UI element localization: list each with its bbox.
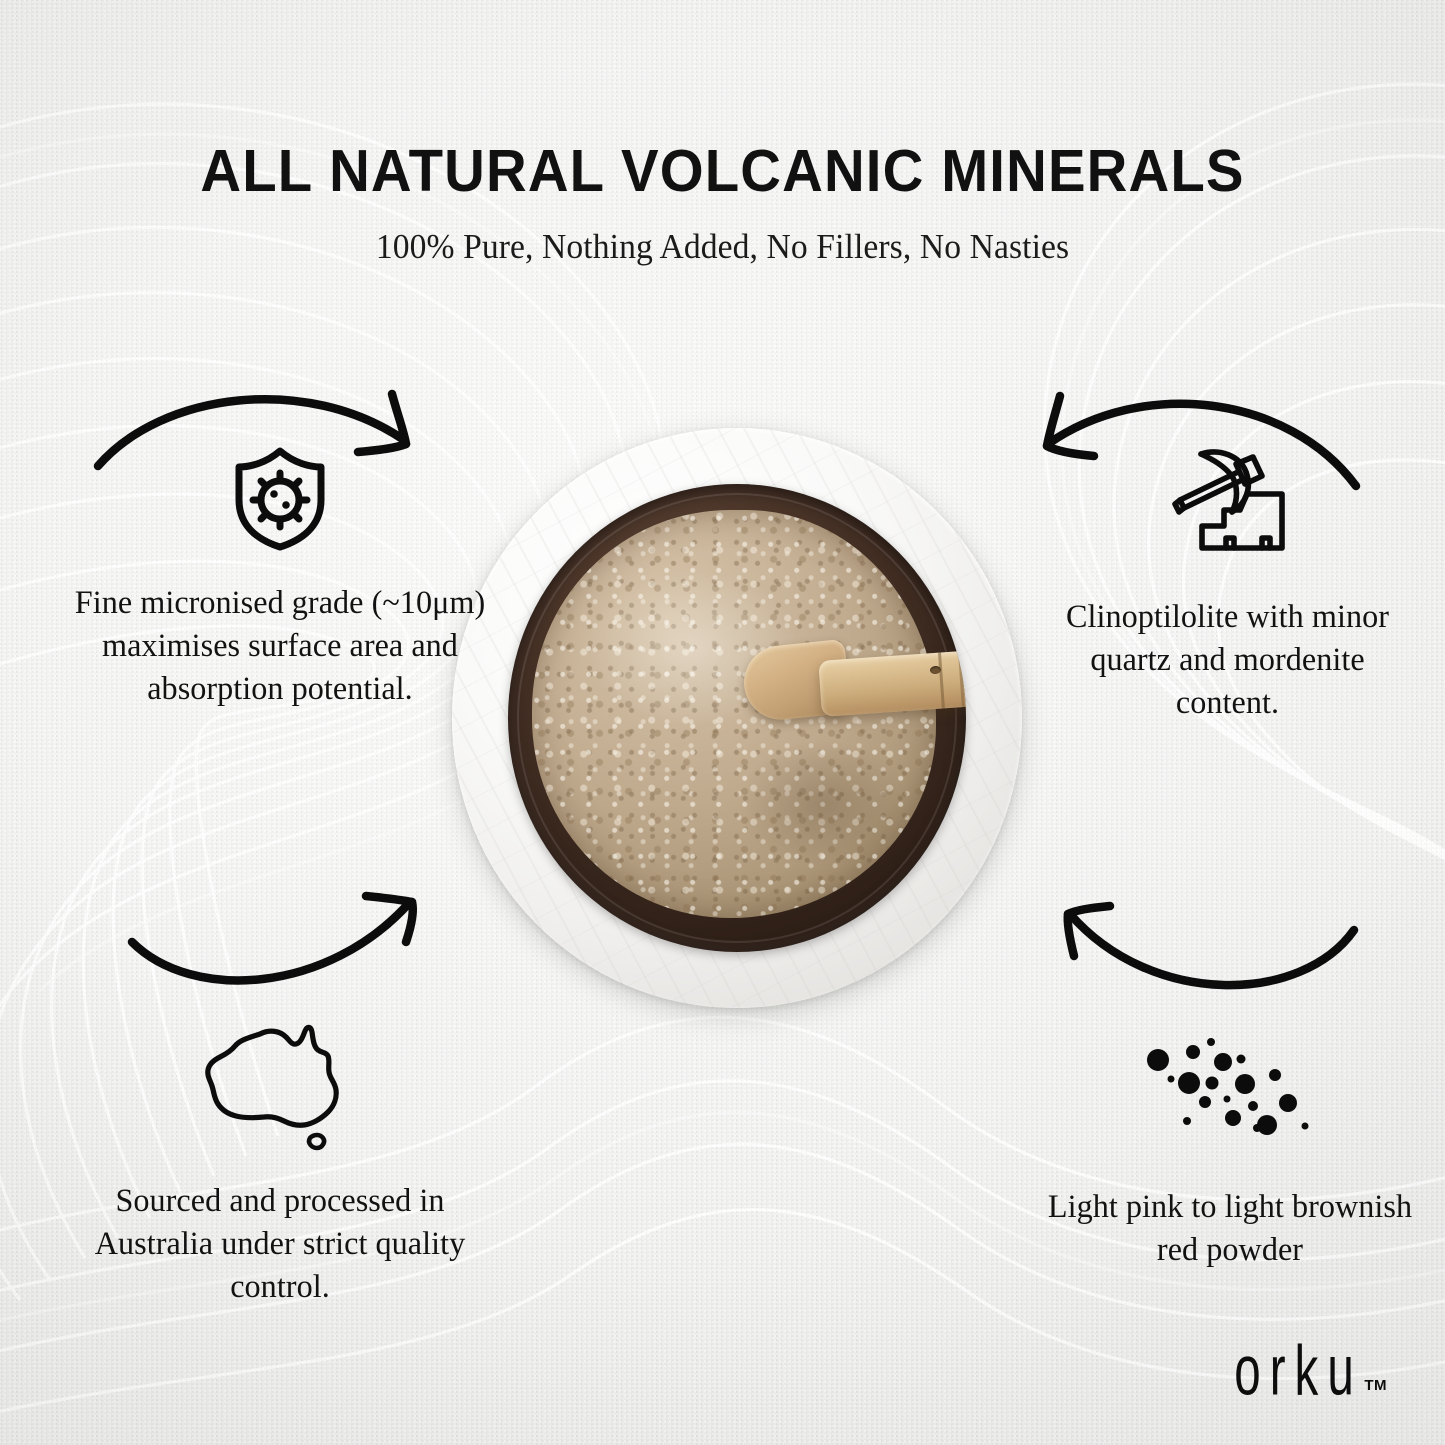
shield-germ-icon — [60, 440, 500, 552]
brand-wordmark: orku — [1234, 1338, 1363, 1403]
page-subtitle: 100% Pure, Nothing Added, No Fillers, No… — [29, 227, 1416, 267]
australia-map-icon — [70, 1014, 490, 1152]
feature-label: Fine micronised grade (~10μm) maximises … — [66, 582, 495, 711]
infographic-canvas: ALL NATURAL VOLCANIC MINERALS 100% Pure,… — [0, 0, 1445, 1445]
feature-australian-sourced: Sourced and processed in Australia under… — [70, 1014, 490, 1309]
arrow-bottom-right — [1040, 886, 1360, 1012]
feature-label: Light pink to light brownish red powder — [1045, 1186, 1416, 1272]
feature-fine-micronised-grade: Fine micronised grade (~10μm) maximises … — [60, 440, 500, 711]
feature-label: Sourced and processed in Australia under… — [75, 1180, 485, 1309]
page-title: ALL NATURAL VOLCANIC MINERALS — [33, 142, 1413, 201]
mineral-powder — [532, 510, 936, 918]
brand-logo: orku TM — [1206, 1350, 1388, 1403]
arrow-bottom-left — [128, 884, 428, 1004]
trademark-symbol: TM — [1364, 1377, 1387, 1394]
ceramic-bowl — [508, 484, 966, 952]
feature-label: Clinoptilolite with minor quartz and mor… — [1045, 596, 1411, 725]
header: ALL NATURAL VOLCANIC MINERALS 100% Pure,… — [0, 142, 1445, 267]
volcanic-mineral-powder-photo — [452, 428, 1022, 1008]
feature-powder-colour: Light pink to light brownish red powder — [1040, 1032, 1420, 1272]
powder-particles-icon — [1040, 1032, 1420, 1152]
pickaxe-mine-icon — [1040, 438, 1415, 554]
feature-mineral-composition: Clinoptilolite with minor quartz and mor… — [1040, 438, 1415, 725]
